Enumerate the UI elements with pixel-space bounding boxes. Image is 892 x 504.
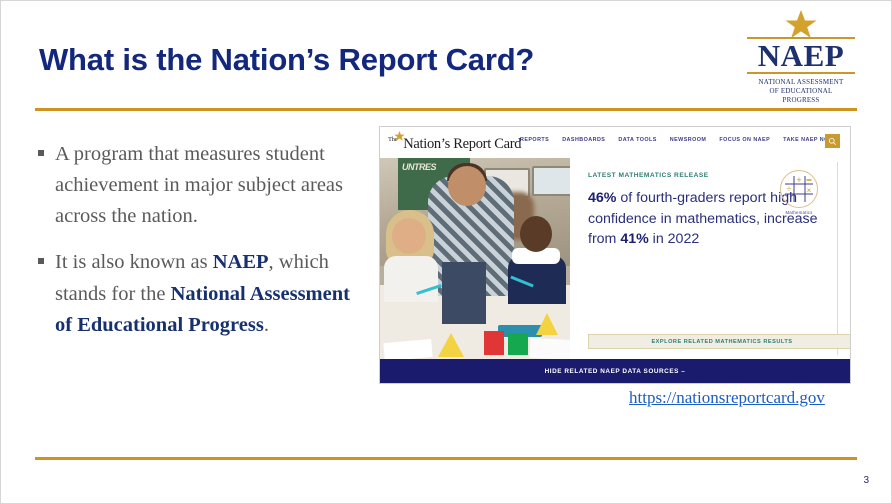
nav-item-reports[interactable]: REPORTS bbox=[520, 137, 549, 143]
naep-tagline-line3: PROGRESS bbox=[745, 96, 857, 105]
photo-worksheet-right bbox=[530, 338, 570, 359]
hide-data-sources-button[interactable]: HIDE RELATED NAEP DATA SOURCES – bbox=[380, 359, 850, 383]
photo-cone-back bbox=[536, 313, 558, 335]
bullet-text-2a: It is also known as bbox=[55, 251, 213, 273]
website-url-link[interactable]: https://nationsreportcard.gov bbox=[629, 388, 825, 408]
website-nav: REPORTS DASHBOARDS DATA TOOLS NEWSROOM F… bbox=[520, 137, 834, 143]
bullet-text-1: A program that measures student achievem… bbox=[55, 143, 343, 227]
subject-badge-label: Mathematics bbox=[776, 210, 822, 215]
svg-text:÷: ÷ bbox=[787, 184, 792, 194]
photo-screen-right bbox=[532, 166, 570, 196]
release-stat-primary: 46% bbox=[588, 190, 616, 206]
bullet-marker-icon bbox=[38, 258, 44, 264]
naep-wordmark: NAEP bbox=[745, 37, 857, 74]
nav-item-data-tools[interactable]: DATA TOOLS bbox=[618, 137, 656, 143]
naep-tagline-line2: OF EDUCATIONAL bbox=[745, 87, 857, 96]
photo-girl-body bbox=[384, 256, 438, 302]
website-body: UNTRES bbox=[380, 158, 850, 359]
classroom-photo: UNTRES bbox=[380, 158, 570, 359]
nav-item-dashboards[interactable]: DASHBOARDS bbox=[562, 137, 605, 143]
slide: What is the Nation’s Report Card? NAEP N… bbox=[0, 0, 892, 504]
svg-text:+: + bbox=[796, 175, 801, 185]
search-icon bbox=[828, 137, 837, 146]
divider-top bbox=[35, 108, 857, 111]
divider-bottom bbox=[35, 457, 857, 460]
nav-item-newsroom[interactable]: NEWSROOM bbox=[670, 137, 707, 143]
bullet-list: A program that measures student achievem… bbox=[37, 139, 359, 356]
website-header: The Nation’s Report Card REPORTS DASHBOA… bbox=[380, 127, 850, 158]
content-divider bbox=[837, 162, 838, 355]
naep-tagline: NATIONAL ASSESSMENT OF EDUCATIONAL PROGR… bbox=[745, 78, 857, 106]
svg-text:×: × bbox=[807, 186, 812, 195]
photo-teacher-head bbox=[448, 166, 486, 206]
nations-report-card-logo[interactable]: The Nation’s Report Card bbox=[388, 131, 521, 153]
photo-yellow-cone bbox=[438, 333, 464, 357]
page-number: 3 bbox=[863, 475, 869, 486]
photo-worksheet-left bbox=[383, 339, 432, 359]
list-item: It is also known as NAEP, which stands f… bbox=[37, 247, 359, 340]
mathematics-icon: + ÷ × bbox=[780, 170, 818, 208]
naep-tagline-line1: NATIONAL ASSESSMENT bbox=[745, 78, 857, 87]
photo-girl-head bbox=[392, 218, 426, 254]
search-button[interactable] bbox=[825, 134, 840, 148]
subject-badge[interactable]: + ÷ × Mathematics bbox=[776, 170, 822, 215]
nav-item-focus-on-naep[interactable]: FOCUS ON NAEP bbox=[719, 137, 770, 143]
list-item: A program that measures student achievem… bbox=[37, 139, 359, 232]
page-title: What is the Nation’s Report Card? bbox=[39, 42, 534, 78]
bullet-highlight-naep: NAEP bbox=[213, 251, 269, 273]
website-screenshot: The Nation’s Report Card REPORTS DASHBOA… bbox=[379, 126, 851, 384]
naep-logo: NAEP NATIONAL ASSESSMENT OF EDUCATIONAL … bbox=[745, 9, 857, 106]
bullet-marker-icon bbox=[38, 150, 44, 156]
bullet-text-2end: . bbox=[264, 314, 269, 336]
website-content: LATEST MATHEMATICS RELEASE 46% of fourth… bbox=[570, 158, 850, 359]
photo-red-block bbox=[484, 331, 504, 355]
photo-green-block bbox=[508, 333, 528, 355]
release-text-2: in 2022 bbox=[649, 231, 700, 247]
release-stat-secondary: 41% bbox=[620, 231, 648, 247]
photo-board-text: UNTRES bbox=[402, 162, 436, 172]
explore-results-button[interactable]: EXPLORE RELATED MATHEMATICS RESULTS bbox=[588, 334, 851, 349]
photo-boy-head bbox=[520, 216, 552, 252]
logo-name-text: Nation’s Report Card bbox=[403, 136, 521, 152]
photo-teacher-jeans bbox=[442, 262, 486, 324]
